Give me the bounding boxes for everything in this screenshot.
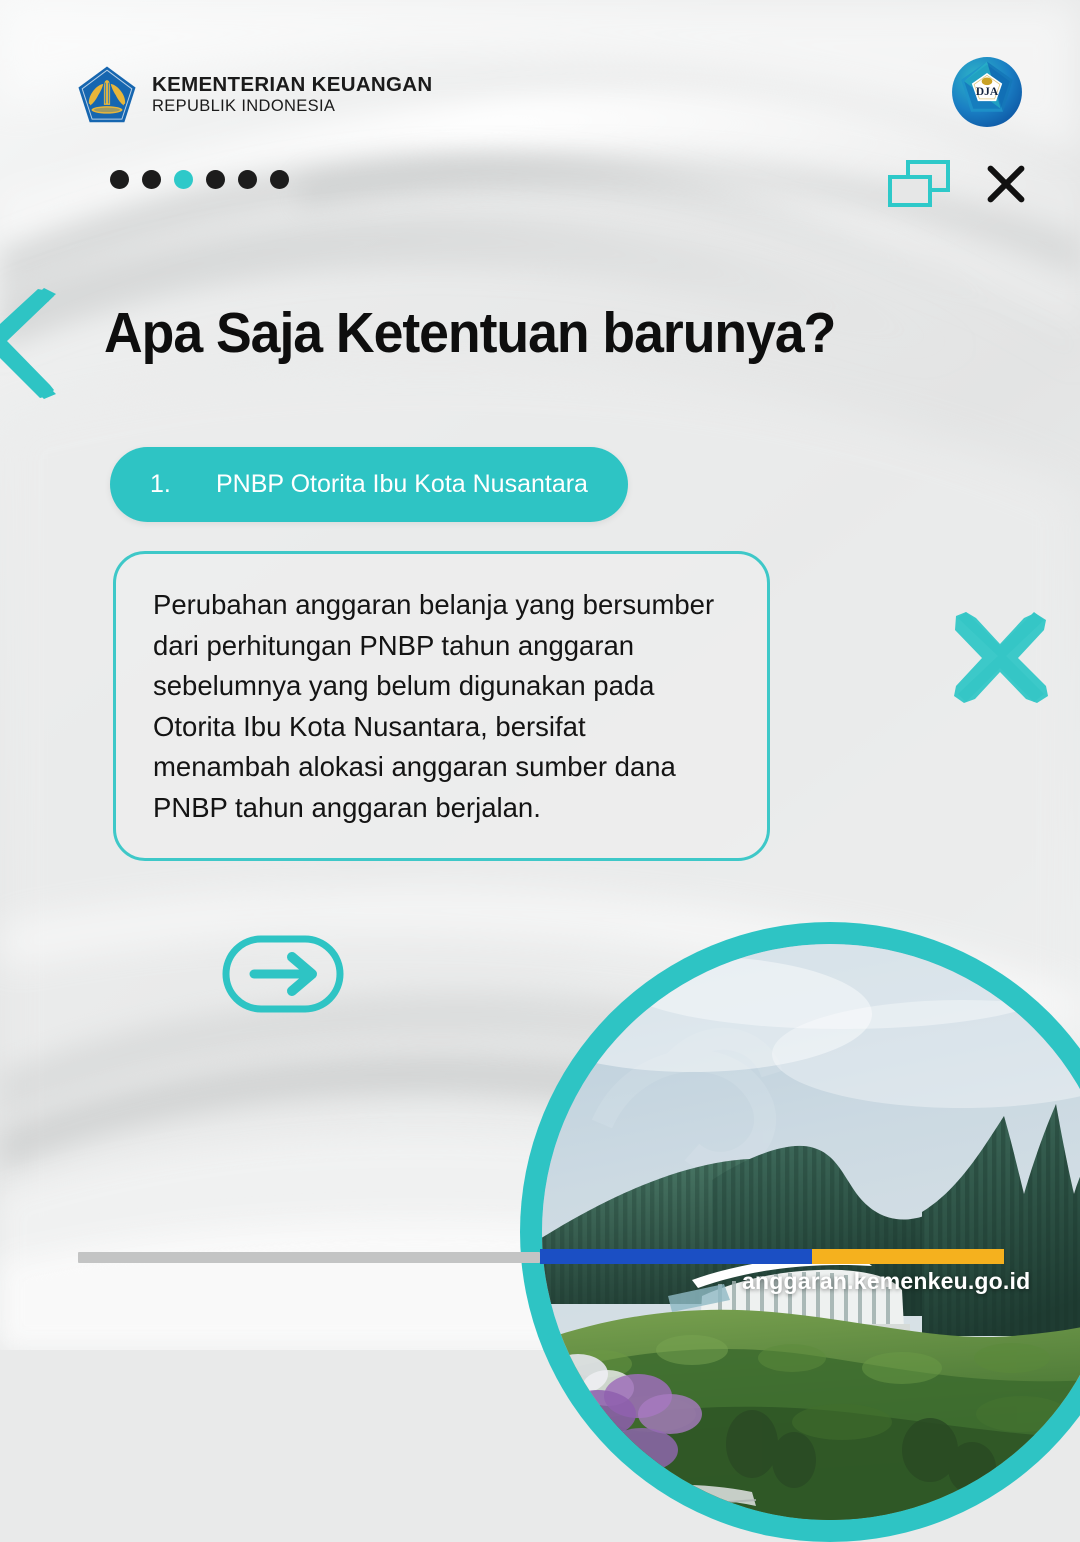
carousel-dot-4[interactable] [206, 170, 225, 189]
footer-blue-bar [540, 1249, 812, 1264]
kemenkeu-logo-group: KEMENTERIAN KEUANGAN REPUBLIK INDONESIA [76, 64, 432, 126]
ministry-name: KEMENTERIAN KEUANGAN REPUBLIK INDONESIA [152, 74, 432, 115]
brush-chevron-left-icon [0, 286, 60, 401]
photo-clip-mask [542, 944, 1080, 1520]
footer-yellow-bar [812, 1249, 1004, 1264]
carousel-dots[interactable] [110, 170, 289, 189]
carousel-dot-2[interactable] [142, 170, 161, 189]
item-number: 1. [150, 470, 216, 499]
footer-website-url: anggaran.kemenkeu.go.id [742, 1268, 1030, 1295]
close-x-icon[interactable] [984, 162, 1028, 206]
carousel-dot-6[interactable] [270, 170, 289, 189]
window-rect-front [888, 175, 932, 207]
brush-x-mark-icon [940, 608, 1058, 708]
item-pill[interactable]: 1. PNBP Otorita Ibu Kota Nusantara [110, 447, 628, 522]
arrow-right-icon [254, 957, 312, 991]
ikn-photo-container [520, 922, 1080, 1542]
carousel-dot-5[interactable] [238, 170, 257, 189]
item-description-card: Perubahan anggaran belanja yang bersumbe… [113, 551, 770, 861]
stacked-windows-icon[interactable] [888, 160, 950, 207]
item-description-text: Perubahan anggaran belanja yang bersumbe… [153, 585, 729, 828]
ikn-palace-photo [542, 944, 1080, 1520]
dja-mark-text: DJA [976, 86, 999, 98]
page-header: KEMENTERIAN KEUANGAN REPUBLIK INDONESIA … [0, 0, 1080, 175]
carousel-dot-1[interactable] [110, 170, 129, 189]
item-label: PNBP Otorita Ibu Kota Nusantara [216, 470, 588, 499]
carousel-dot-3[interactable] [174, 170, 193, 189]
next-arrow-button[interactable] [222, 935, 344, 1013]
ministry-line-1: KEMENTERIAN KEUANGAN [152, 74, 432, 97]
footer-gray-bar [78, 1252, 540, 1263]
top-right-icon-group[interactable] [888, 160, 1028, 207]
dja-polygon-logo-icon: DJA [949, 54, 1025, 130]
kemenkeu-pentagon-logo-icon [76, 64, 138, 126]
ministry-line-2: REPUBLIK INDONESIA [152, 97, 432, 115]
page-title: Apa Saja Ketentuan barunya? [104, 300, 912, 366]
